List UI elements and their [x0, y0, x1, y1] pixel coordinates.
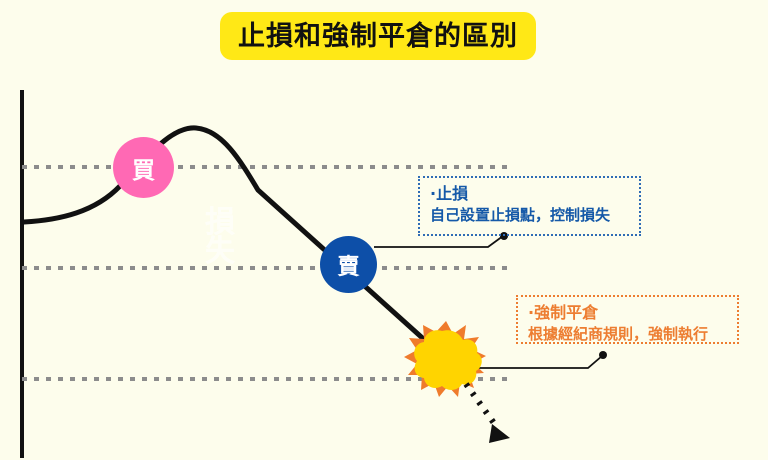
page-title: 止損和強制平倉的區別 [220, 12, 536, 60]
sell-marker-label: 賣 [337, 249, 359, 281]
buy-marker-label: 買 [132, 151, 155, 185]
callout-stop-loss-body: 自己設置止損點，控制損失 [430, 206, 629, 226]
dotted-arrow [466, 384, 510, 443]
leader-line-liquidation [472, 351, 607, 368]
callout-forced-liquidation-body: 根據經紀商規則，強制執行 [528, 325, 727, 345]
chart-graphics [0, 0, 768, 460]
price-curve [24, 128, 458, 370]
page-title-text: 止損和強制平倉的區別 [238, 23, 518, 50]
callout-stop-loss-heading: ·止損 [430, 184, 629, 204]
callout-forced-liquidation-heading: ·強制平倉 [528, 303, 727, 323]
callout-stop-loss: ·止損 自己設置止損點，控制損失 [418, 176, 641, 236]
diagram-canvas: 止損和強制平倉的區別 損失 買 賣 ·止損 自己設置止損點，控制損失 ·強制平倉… [0, 0, 768, 460]
callout-forced-liquidation: ·強制平倉 根據經紀商規則，強制執行 [516, 295, 739, 344]
sell-marker[interactable]: 賣 [320, 236, 377, 293]
buy-marker[interactable]: 買 [113, 137, 174, 198]
